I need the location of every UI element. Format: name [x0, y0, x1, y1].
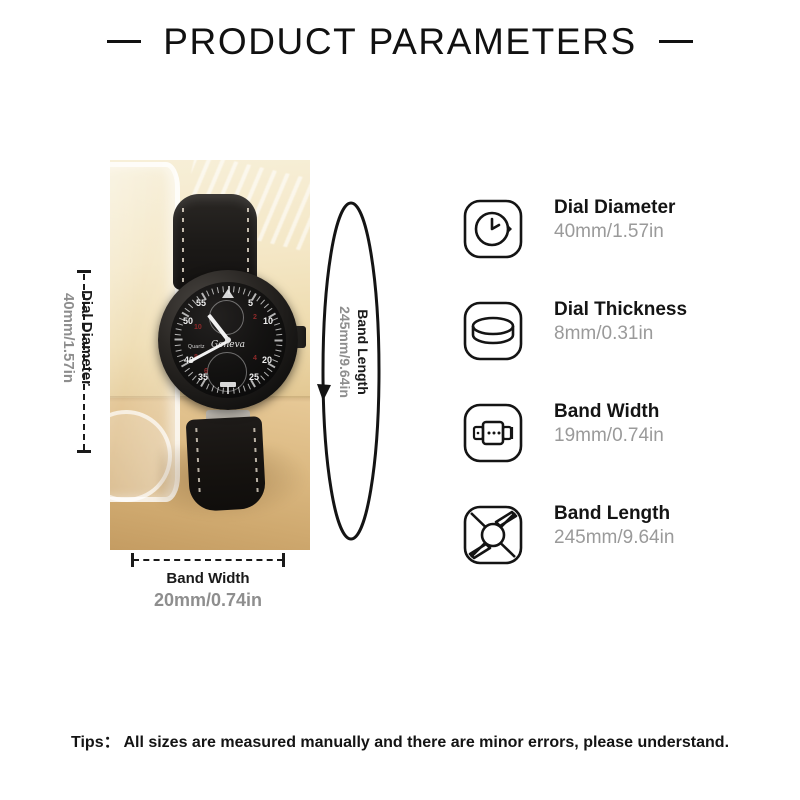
dial-minute-tick: [264, 303, 269, 308]
photo-strap-stitch-left: [182, 208, 184, 282]
dimension-band-length-label: Band Length: [355, 309, 371, 395]
dimension-band-width: Band Width 20mm/0.74in: [128, 552, 288, 622]
dial-minute-tick: [260, 300, 265, 305]
product-parameters-page: PRODUCT PARAMETERS 5 10 20: [0, 0, 800, 800]
spec-row-dial-thickness: Dial Thickness 8mm/0.31in: [462, 298, 762, 400]
dial-minute-tick: [243, 288, 246, 294]
dial-inner-numeral-6: 6: [204, 368, 208, 375]
dial-minute-tick: [175, 339, 183, 341]
spec-value-dial-thickness: 8mm/0.31in: [554, 322, 687, 347]
spec-label-dial-thickness: Dial Thickness: [554, 298, 687, 322]
dial-minute-tick: [176, 328, 182, 330]
dial-minute-tick: [222, 286, 224, 292]
dial-minute-tick: [276, 334, 282, 336]
band-length-icon: [462, 504, 524, 566]
dial-minute-tick: [243, 385, 246, 391]
dial-minute-tick: [275, 340, 283, 342]
dial-minute-tick: [177, 354, 183, 357]
dial-minute-tick: [275, 328, 281, 330]
dial-minute-tick: [227, 386, 229, 394]
spec-label-dial-diameter: Dial Diameter: [554, 196, 675, 220]
dial-minute-tick: [260, 375, 265, 380]
dial-minute-tick: [228, 286, 230, 294]
dial-minute-tick: [188, 303, 193, 308]
dimension-band-length-text: Band Length 245mm/9.64in: [335, 237, 371, 467]
spec-row-band-width: Band Width 19mm/0.74in: [462, 400, 762, 502]
dial-minute-tick: [211, 385, 214, 391]
dial-minute-tick: [274, 354, 280, 357]
dial-inner-numeral-4: 4: [253, 355, 257, 362]
dial-minute-tick: [192, 375, 197, 380]
dimension-band-length: Band Length 245mm/9.64in: [316, 196, 386, 546]
dial-minute-tick: [185, 368, 190, 372]
dimension-dial-diameter-label: Dial Diameter: [78, 290, 95, 386]
disc-thickness-icon: [462, 300, 524, 362]
spec-row-dial-diameter: Dial Diameter 40mm/1.57in: [462, 196, 762, 298]
watch-dial-icon: [462, 198, 524, 260]
spec-value-band-width: 19mm/0.74in: [554, 424, 664, 449]
title-dash-right-icon: [659, 40, 693, 43]
dial-minute-tick: [206, 384, 209, 390]
dial-inner-numeral-2: 2: [253, 314, 257, 321]
dimension-cap-right-icon: [282, 553, 285, 567]
dial-minute-tick: [175, 334, 181, 336]
dimension-band-width-label: Band Width: [128, 570, 288, 587]
spec-text-band-length: Band Length 245mm/9.64in: [554, 502, 674, 550]
dial-numeral-50: 50: [183, 317, 193, 326]
page-title: PRODUCT PARAMETERS: [163, 23, 637, 60]
dial-minute-tick: [211, 288, 214, 294]
spec-label-band-width: Band Width: [554, 400, 664, 424]
dimension-dashed-line-horizontal: [133, 559, 283, 561]
dial-minute-tick: [238, 287, 240, 293]
dial-minute-tick: [233, 286, 235, 292]
spec-label-band-length: Band Length: [554, 502, 674, 526]
title-dash-left-icon: [107, 40, 141, 43]
spec-text-band-width: Band Width 19mm/0.74in: [554, 400, 664, 448]
product-photo: 5 10 20 25 35 40 50 55 2 4 6 8 10 Quartz…: [110, 160, 310, 550]
spec-text-dial-diameter: Dial Diameter 40mm/1.57in: [554, 196, 675, 244]
dimension-cap-bottom-icon: [77, 450, 91, 453]
dial-minute-tick: [185, 308, 190, 312]
dial-minute-tick: [272, 359, 278, 362]
dimension-dial-diameter-value: 40mm/1.57in: [60, 293, 77, 383]
dial-subdial-top: [209, 300, 244, 335]
dial-minute-tick: [272, 318, 278, 321]
dial-minute-tick: [268, 363, 276, 369]
spec-value-band-length: 245mm/9.64in: [554, 526, 674, 551]
dimension-dial-diameter: Dial Diameter 40mm/1.57in: [40, 268, 100, 456]
dial-center-pin: [225, 337, 231, 343]
photo-strap-stitch-right: [247, 208, 249, 282]
tips-note: Tips： All sizes are measured manually an…: [0, 728, 800, 752]
dial-minute-tick: [248, 290, 251, 296]
dial-minute-tick: [264, 372, 269, 377]
dial-minute-tick: [267, 308, 272, 312]
band-width-icon: [462, 402, 524, 464]
dial-inner-numeral-10: 10: [194, 324, 202, 331]
spec-list: Dial Diameter 40mm/1.57in Dial Thickness…: [462, 196, 762, 604]
dial-minute-tick: [238, 387, 240, 393]
dial-minute-tick: [267, 368, 272, 372]
dial-minute-tick: [206, 290, 209, 296]
dial-minute-tick: [275, 349, 281, 351]
dial-minute-tick: [188, 372, 193, 377]
dial-minute-tick: [176, 349, 182, 351]
spec-row-band-length: Band Length 245mm/9.64in: [462, 502, 762, 604]
photo-watch-case: 5 10 20 25 35 40 50 55 2 4 6 8 10 Quartz…: [158, 270, 298, 410]
dimension-band-length-value: 245mm/9.64in: [337, 306, 353, 398]
dimension-band-width-value: 20mm/0.74in: [128, 590, 288, 611]
spec-text-dial-thickness: Dial Thickness 8mm/0.31in: [554, 298, 687, 346]
page-title-row: PRODUCT PARAMETERS: [0, 18, 800, 64]
dial-minute-tick: [274, 323, 280, 326]
photo-watch-dial: 5 10 20 25 35 40 50 55 2 4 6 8 10 Quartz…: [170, 282, 286, 398]
dial-minute-tick: [256, 296, 260, 301]
dial-minute-tick: [217, 287, 219, 293]
dial-minute-tick: [248, 384, 251, 390]
dial-numeral-10: 10: [263, 317, 273, 326]
dimension-dial-diameter-text: Dial Diameter 40mm/1.57in: [59, 248, 95, 428]
spec-value-dial-diameter: 40mm/1.57in: [554, 220, 675, 245]
